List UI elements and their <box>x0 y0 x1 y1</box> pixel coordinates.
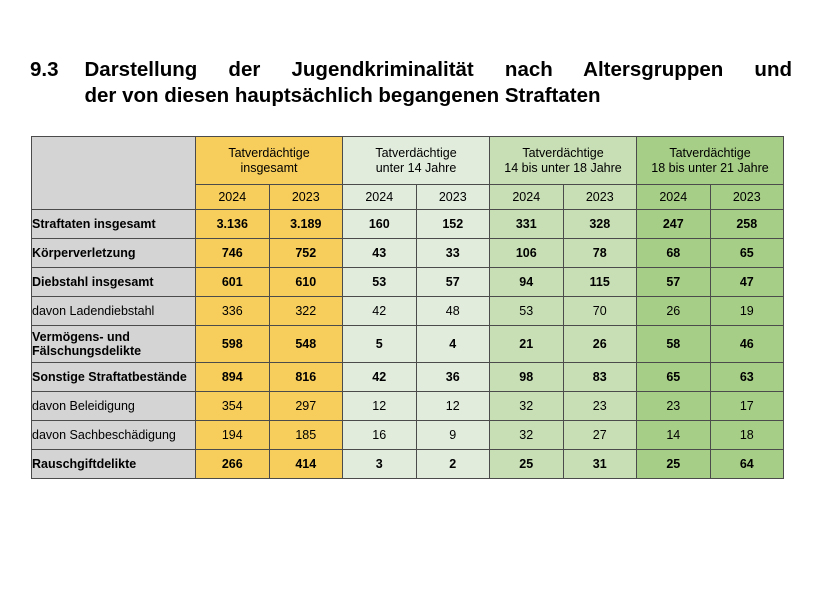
year-header-total-2024: 2024 <box>196 185 270 210</box>
row-label: Rauschgiftdelikte <box>32 450 196 479</box>
data-cell: 25 <box>637 450 711 479</box>
data-cell: 106 <box>490 239 564 268</box>
data-cell: 601 <box>196 268 270 297</box>
title-line-2: der von diesen hauptsächlich begangenen … <box>85 83 793 109</box>
group-label-line1: Tatverdächtige <box>522 146 603 160</box>
group-label-line2: insgesamt <box>241 161 298 175</box>
table-body: Straftaten insgesamt3.1363.1891601523313… <box>32 210 784 479</box>
table-header: Tatverdächtige insgesamt Tatverdächtige … <box>32 137 784 210</box>
group-label-line2: 18 bis unter 21 Jahre <box>651 161 768 175</box>
group-label-line1: Tatverdächtige <box>375 146 456 160</box>
page-title: 9.3 Darstellung der Jugendkriminalität n… <box>30 57 792 109</box>
data-cell: 610 <box>269 268 343 297</box>
data-cell: 63 <box>710 363 784 392</box>
column-group-header-total: Tatverdächtige insgesamt <box>196 137 343 185</box>
group-label-line1: Tatverdächtige <box>228 146 309 160</box>
data-cell: 160 <box>343 210 417 239</box>
data-cell: 3.136 <box>196 210 270 239</box>
data-cell: 894 <box>196 363 270 392</box>
data-cell: 98 <box>490 363 564 392</box>
data-cell: 53 <box>343 268 417 297</box>
data-cell: 70 <box>563 297 637 326</box>
title-number: 9.3 <box>30 57 59 83</box>
data-cell: 46 <box>710 326 784 363</box>
title-text: Darstellung der Jugendkriminalität nach … <box>85 57 793 109</box>
data-cell: 47 <box>710 268 784 297</box>
table-row: Straftaten insgesamt3.1363.1891601523313… <box>32 210 784 239</box>
year-header-under14-2023: 2023 <box>416 185 490 210</box>
data-cell: 43 <box>343 239 417 268</box>
data-cell: 32 <box>490 421 564 450</box>
data-cell: 297 <box>269 392 343 421</box>
header-row-groups: Tatverdächtige insgesamt Tatverdächtige … <box>32 137 784 185</box>
data-cell: 247 <box>637 210 711 239</box>
data-cell: 16 <box>343 421 417 450</box>
column-group-header-18-to-21: Tatverdächtige 18 bis unter 21 Jahre <box>637 137 784 185</box>
data-cell: 258 <box>710 210 784 239</box>
row-label: davon Beleidigung <box>32 392 196 421</box>
year-header-18to21-2024: 2024 <box>637 185 711 210</box>
data-cell: 57 <box>637 268 711 297</box>
table-row: Vermögens- und Fälschungsdelikte59854854… <box>32 326 784 363</box>
statistics-table: Tatverdächtige insgesamt Tatverdächtige … <box>31 136 784 479</box>
data-cell: 17 <box>710 392 784 421</box>
data-cell: 23 <box>637 392 711 421</box>
data-cell: 328 <box>563 210 637 239</box>
data-cell: 12 <box>416 392 490 421</box>
data-cell: 752 <box>269 239 343 268</box>
data-cell: 2 <box>416 450 490 479</box>
data-cell: 185 <box>269 421 343 450</box>
table-row: Rauschgiftdelikte2664143225312564 <box>32 450 784 479</box>
data-cell: 83 <box>563 363 637 392</box>
year-header-total-2023: 2023 <box>269 185 343 210</box>
row-label: Körperverletzung <box>32 239 196 268</box>
data-cell: 354 <box>196 392 270 421</box>
data-cell: 94 <box>490 268 564 297</box>
year-header-14to18-2023: 2023 <box>563 185 637 210</box>
data-cell: 19 <box>710 297 784 326</box>
data-cell: 194 <box>196 421 270 450</box>
data-cell: 53 <box>490 297 564 326</box>
data-cell: 331 <box>490 210 564 239</box>
data-cell: 42 <box>343 297 417 326</box>
year-header-14to18-2024: 2024 <box>490 185 564 210</box>
data-cell: 26 <box>637 297 711 326</box>
table-row: davon Ladendiebstahl336322424853702619 <box>32 297 784 326</box>
data-cell: 25 <box>490 450 564 479</box>
group-label-line2: unter 14 Jahre <box>376 161 457 175</box>
data-cell: 21 <box>490 326 564 363</box>
column-group-header-under-14: Tatverdächtige unter 14 Jahre <box>343 137 490 185</box>
row-label: davon Ladendiebstahl <box>32 297 196 326</box>
row-label: Straftaten insgesamt <box>32 210 196 239</box>
data-cell: 48 <box>416 297 490 326</box>
data-cell: 26 <box>563 326 637 363</box>
data-cell: 57 <box>416 268 490 297</box>
row-label: Sonstige Straftatbestände <box>32 363 196 392</box>
data-cell: 33 <box>416 239 490 268</box>
data-cell: 746 <box>196 239 270 268</box>
data-cell: 322 <box>269 297 343 326</box>
data-cell: 65 <box>710 239 784 268</box>
data-cell: 152 <box>416 210 490 239</box>
data-cell: 266 <box>196 450 270 479</box>
data-cell: 9 <box>416 421 490 450</box>
group-label-line1: Tatverdächtige <box>669 146 750 160</box>
data-cell: 27 <box>563 421 637 450</box>
year-header-18to21-2023: 2023 <box>710 185 784 210</box>
data-cell: 42 <box>343 363 417 392</box>
table-corner-cell <box>32 137 196 210</box>
data-cell: 414 <box>269 450 343 479</box>
data-cell: 23 <box>563 392 637 421</box>
data-cell: 3.189 <box>269 210 343 239</box>
data-cell: 5 <box>343 326 417 363</box>
data-cell: 336 <box>196 297 270 326</box>
table-row: davon Sachbeschädigung19418516932271418 <box>32 421 784 450</box>
table-row: davon Beleidigung354297121232232317 <box>32 392 784 421</box>
group-label-line2: 14 bis unter 18 Jahre <box>504 161 621 175</box>
data-cell: 115 <box>563 268 637 297</box>
column-group-header-14-to-18: Tatverdächtige 14 bis unter 18 Jahre <box>490 137 637 185</box>
data-cell: 14 <box>637 421 711 450</box>
statistics-table-container: Tatverdächtige insgesamt Tatverdächtige … <box>31 136 783 479</box>
data-cell: 598 <box>196 326 270 363</box>
data-cell: 64 <box>710 450 784 479</box>
data-cell: 3 <box>343 450 417 479</box>
title-line-1: Darstellung der Jugendkriminalität nach … <box>85 57 793 83</box>
data-cell: 78 <box>563 239 637 268</box>
data-cell: 816 <box>269 363 343 392</box>
data-cell: 548 <box>269 326 343 363</box>
data-cell: 18 <box>710 421 784 450</box>
year-header-under14-2024: 2024 <box>343 185 417 210</box>
row-label: davon Sachbeschädigung <box>32 421 196 450</box>
table-row: Diebstahl insgesamt6016105357941155747 <box>32 268 784 297</box>
row-label: Diebstahl insgesamt <box>32 268 196 297</box>
data-cell: 68 <box>637 239 711 268</box>
data-cell: 31 <box>563 450 637 479</box>
table-row: Körperverletzung7467524333106786865 <box>32 239 784 268</box>
row-label: Vermögens- und Fälschungsdelikte <box>32 326 196 363</box>
data-cell: 65 <box>637 363 711 392</box>
data-cell: 4 <box>416 326 490 363</box>
data-cell: 58 <box>637 326 711 363</box>
data-cell: 12 <box>343 392 417 421</box>
data-cell: 36 <box>416 363 490 392</box>
data-cell: 32 <box>490 392 564 421</box>
table-row: Sonstige Straftatbestände894816423698836… <box>32 363 784 392</box>
